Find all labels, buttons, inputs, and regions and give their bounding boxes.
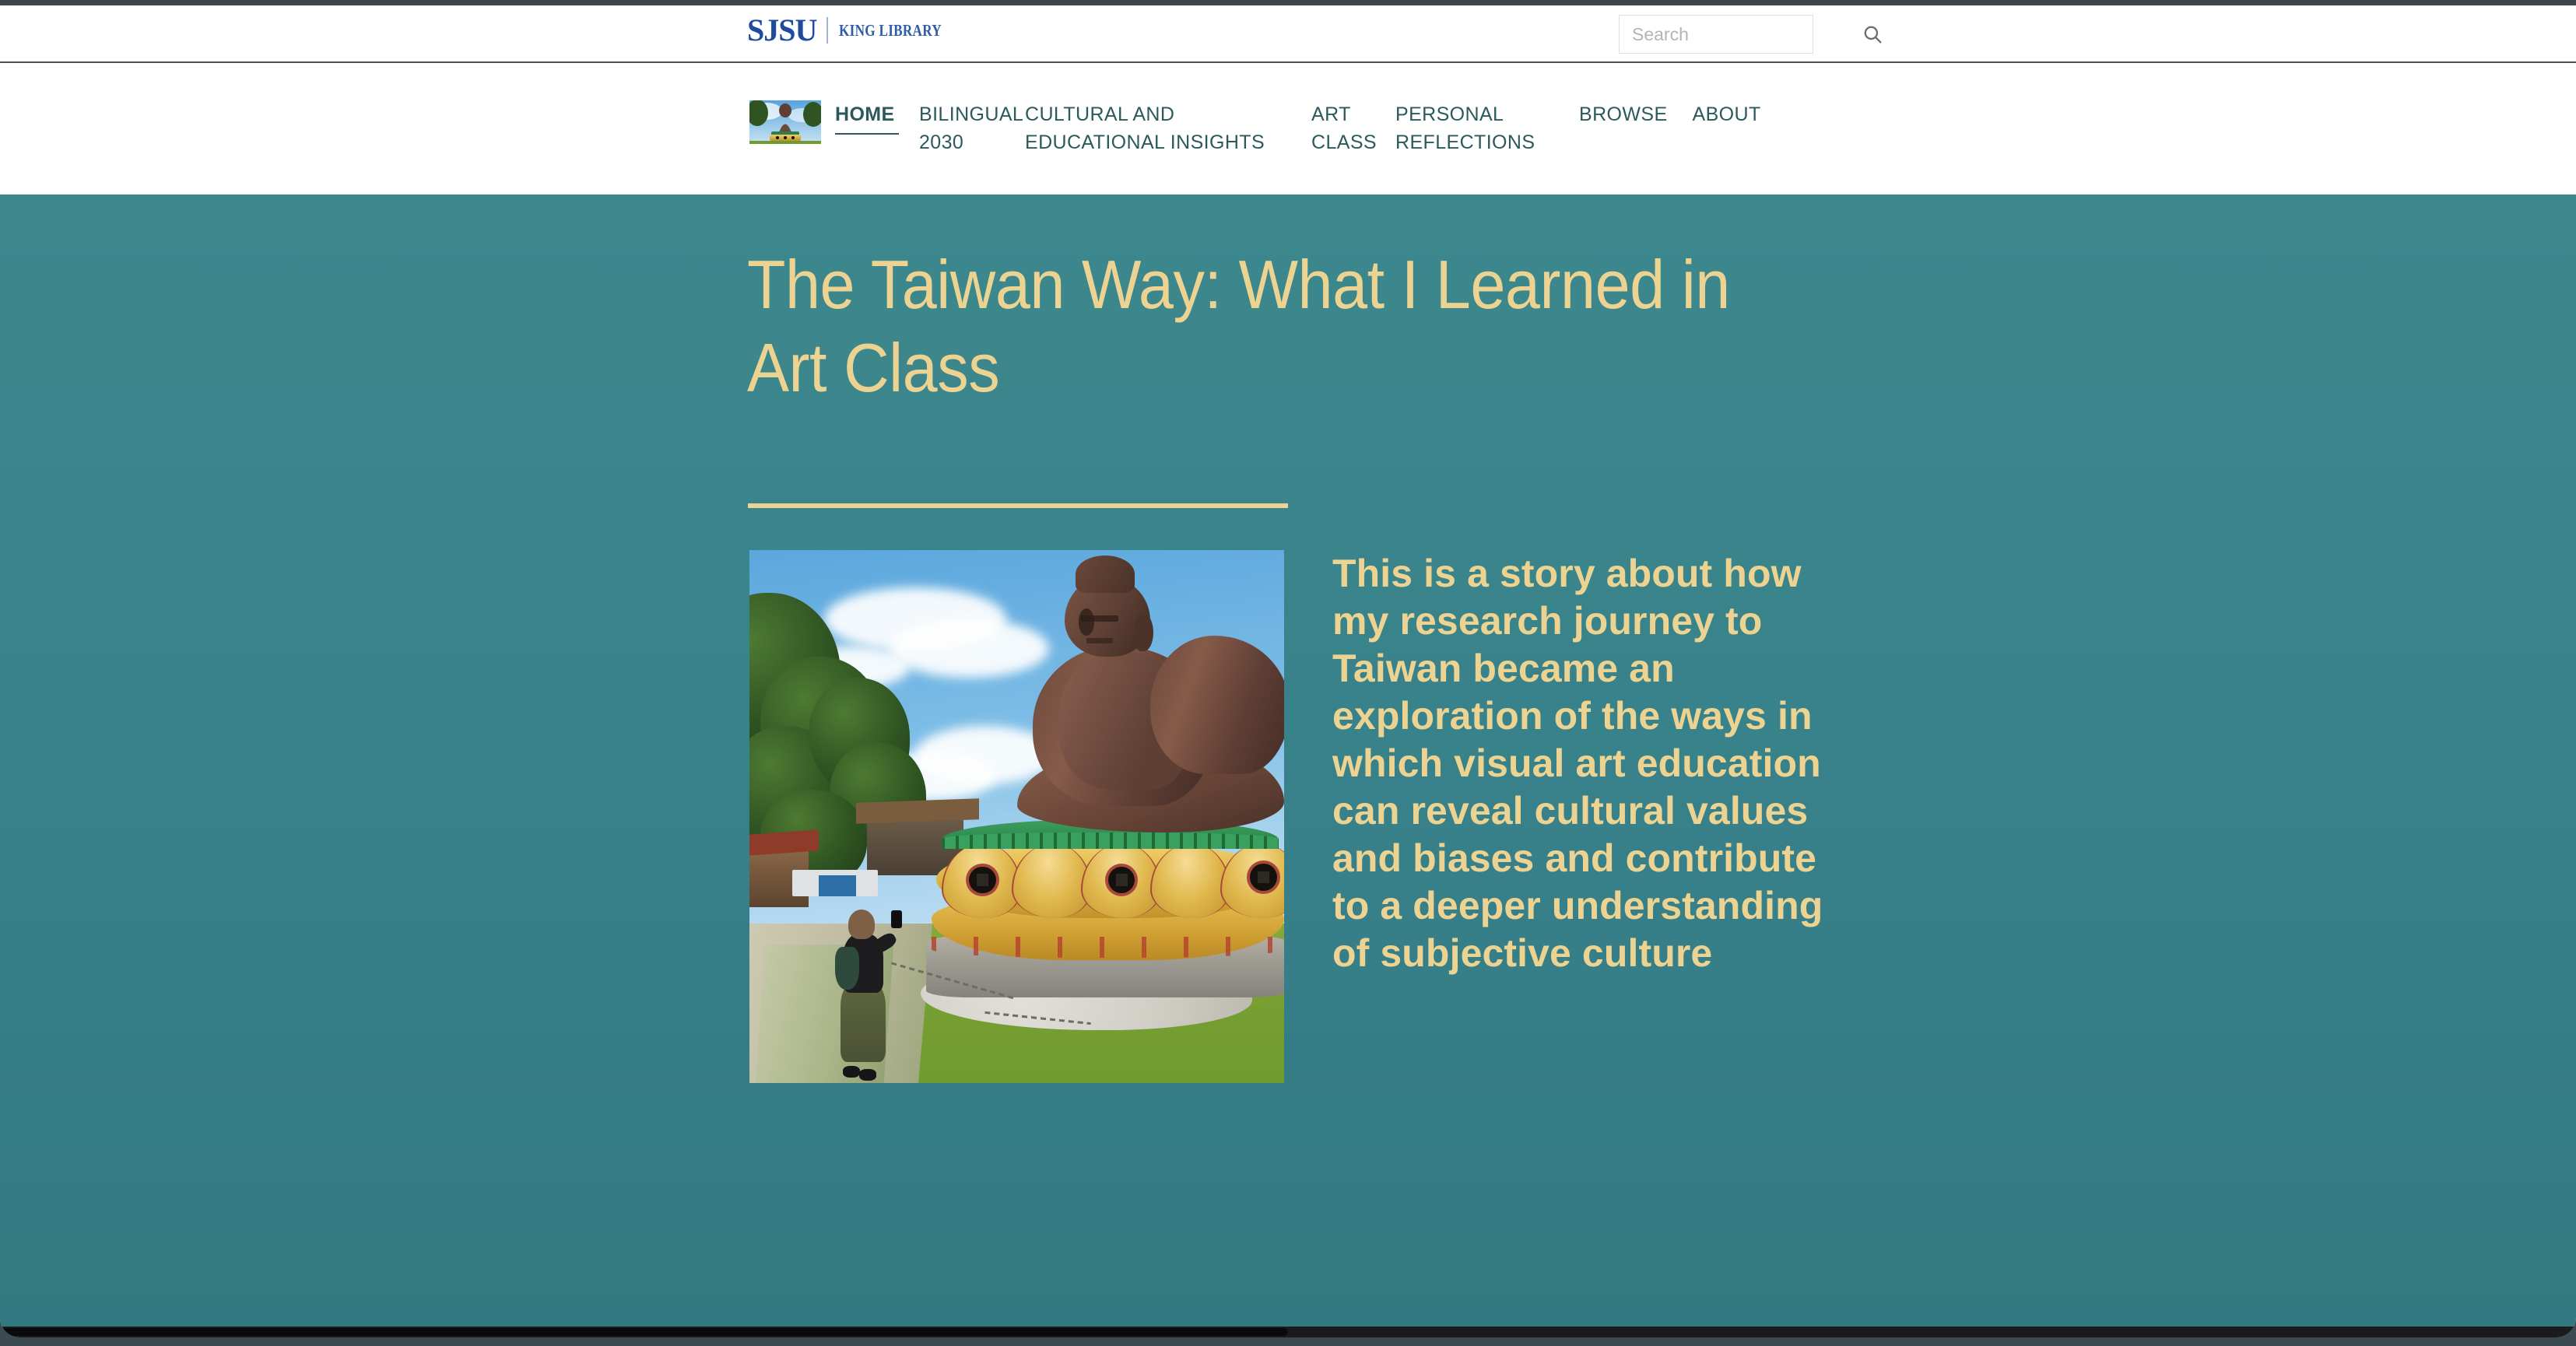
nav-item-bilingual-2030[interactable]: BILINGUAL 2030 bbox=[919, 100, 1003, 157]
site-nav: HOME BILINGUAL 2030 CULTURAL AND EDUCATI… bbox=[0, 63, 2576, 195]
title-divider bbox=[748, 503, 1288, 508]
buddha-statue-thumbnail[interactable] bbox=[749, 100, 821, 144]
article-body: This is a story about how my research jo… bbox=[747, 550, 1848, 1083]
search-icon[interactable] bbox=[1862, 16, 1883, 53]
browser-window: SJSU KING LIBRARY bbox=[0, 0, 2576, 1346]
site-header: SJSU KING LIBRARY bbox=[0, 5, 2576, 63]
article-lead-paragraph: This is a story about how my research jo… bbox=[1332, 550, 1846, 977]
sjsu-wordmark: SJSU bbox=[747, 15, 816, 46]
nav-item-home[interactable]: HOME bbox=[835, 100, 899, 135]
page-viewport: SJSU KING LIBRARY bbox=[0, 5, 2576, 1337]
nav-item-browse[interactable]: BROWSE bbox=[1579, 100, 1668, 128]
nav-item-art-class[interactable]: ART CLASS bbox=[1311, 100, 1374, 157]
horizontal-scrollbar-thumb[interactable] bbox=[0, 1328, 1288, 1336]
article-hero: The Taiwan Way: What I Learned in Art Cl… bbox=[0, 195, 2576, 1337]
page-title: The Taiwan Way: What I Learned in Art Cl… bbox=[747, 243, 1757, 410]
buddha-statue-photo bbox=[749, 550, 1284, 1083]
search-input[interactable] bbox=[1620, 16, 1862, 53]
nav-item-personal-reflections[interactable]: PERSONAL REFLECTIONS bbox=[1395, 100, 1560, 157]
browser-chrome-top-edge bbox=[0, 0, 2576, 5]
nav-item-cultural-and-educational-insights[interactable]: CULTURAL AND EDUCATIONAL INSIGHTS bbox=[1025, 100, 1311, 157]
search-box[interactable] bbox=[1619, 15, 1813, 54]
king-library-wordmark: KING LIBRARY bbox=[839, 23, 942, 39]
logo-divider bbox=[826, 17, 828, 44]
nav-item-about[interactable]: ABOUT bbox=[1693, 100, 1761, 128]
nav-items-container: HOME BILINGUAL 2030 CULTURAL AND EDUCATI… bbox=[749, 100, 1761, 157]
horizontal-scrollbar[interactable] bbox=[0, 1327, 2576, 1337]
sjsu-king-library-logo[interactable]: SJSU KING LIBRARY bbox=[747, 15, 964, 46]
